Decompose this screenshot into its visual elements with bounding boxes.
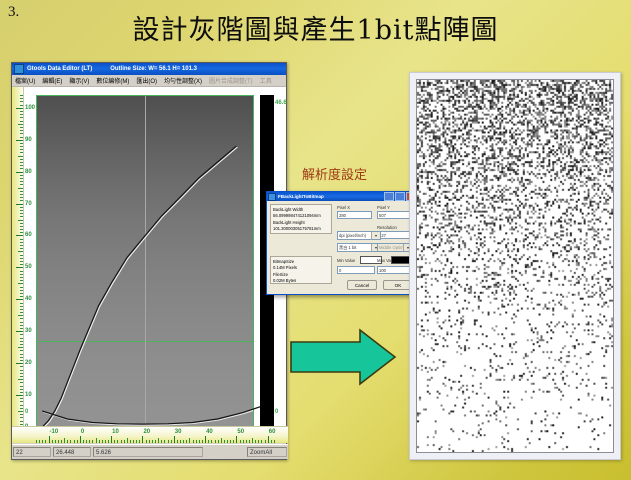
window-titlebar[interactable]: Gtools Data Editor (LT) Outline Size: W=… [12,63,286,75]
backlight-width-value: 56.099998474121094mm [273,213,329,219]
menu-item-edit[interactable]: 編輯(E) [42,76,62,85]
resolution-input[interactable]: 127 [377,231,413,239]
x-axis-tick-label: -10 [50,429,59,435]
menu-item-uniformity[interactable]: 均勻性調整(X) [164,76,202,85]
backlight-info-group: BackLight Width 56.099998474121094mm Bac… [270,204,332,234]
y-axis-tick-label: 90 [25,137,32,143]
app-icon [14,64,24,74]
bit-depth-value: 黑白 1 bit [339,245,356,250]
optimum-select: Middle Optimum ▾ [377,243,413,252]
cancel-button[interactable]: Cancel [347,280,377,290]
chart-right-zero: 0 [275,409,278,415]
menu-item-view[interactable]: 顯示(V) [69,76,89,85]
bitmap-preview-frame[interactable] [409,72,621,460]
backlight-to-bitmap-dialog[interactable]: FBackLightToBitmap BackLight Width 56.09… [266,191,418,295]
backlight-height-value: 101.30000305175781mm [273,226,329,232]
x-axis-tick-label: 40 [206,429,213,435]
chart-top-value: 46.6 [275,100,287,106]
maximize-icon[interactable] [395,192,405,201]
unit-select[interactable]: dpi (pixel/inch) ▾ [337,231,381,240]
arrow-right-icon [291,330,395,384]
min-value-label: Min Value [337,258,355,263]
menu-item-image-composite: 圖片合成調整(T) [209,76,253,85]
y-axis-tick-label: 100 [25,105,35,111]
pixel-y-input[interactable]: 507 [377,211,413,219]
menu-bar[interactable]: 檔案(U) 編輯(E) 顯示(V) 數位編修(M) 匯出(O) 均勻性調整(X)… [12,75,286,87]
dialog-title: FBackLightToBitmap [278,194,324,199]
horizontal-ruler[interactable]: -100102030405060 [12,426,288,443]
plot-curves [37,96,254,427]
bitmap-info-group: BitmapSize 0.14M Pixels FileSize 0.02M B… [270,256,332,284]
dialog-app-icon [268,193,276,201]
outline-size-readout: Outline Size: W= 56.1 H= 101.3 [110,66,197,72]
y-axis-tick-label: 50 [25,264,32,270]
page-title: 設計灰階圖與產生1bit點陣圖 [0,8,631,47]
bit-depth-select[interactable]: 黑白 1 bit ▾ [337,243,381,252]
menu-item-export[interactable]: 匯出(O) [136,76,157,85]
status-zoom-all[interactable]: ZoomAll [247,447,287,457]
y-axis-tick-label: 80 [25,169,32,175]
minimize-icon[interactable] [384,192,394,201]
x-axis-tick-label: 10 [112,429,119,435]
status-bar: 22 26.448 5.626 ZoomAll [12,444,288,459]
pixel-x-label: Pixel X [337,205,350,210]
y-axis-tick-label: 70 [25,201,32,207]
y-axis-tick-label: 10 [25,392,32,398]
x-axis-tick-label: 0 [81,429,84,435]
window-title: Gtools Data Editor (LT) [27,66,92,72]
y-axis-tick-label: 20 [25,360,32,366]
x-axis-tick-label: 50 [237,429,244,435]
menu-item-digital-edit[interactable]: 數位編修(M) [96,76,129,85]
unit-select-value: dpi (pixel/inch) [339,233,366,238]
status-cell-1: 22 [13,447,51,457]
status-cell-x: 26.448 [53,447,91,457]
y-axis-tick-label: 60 [25,232,32,238]
min-value-input[interactable]: 0 [337,266,375,274]
bitmap-preview-inner [416,79,614,453]
x-axis-tick-label: 30 [175,429,182,435]
dialog-body: BackLight Width 56.099998474121094mm Bac… [267,201,417,294]
x-axis-tick-label: 20 [143,429,150,435]
dialog-titlebar[interactable]: FBackLightToBitmap [267,192,417,201]
y-axis-tick-label: 40 [25,296,32,302]
chevron-down-icon[interactable]: ▾ [371,232,380,239]
gtools-data-editor-window[interactable]: Gtools Data Editor (LT) Outline Size: W=… [11,62,287,460]
dithered-bitmap-canvas [417,80,613,452]
menu-item-file[interactable]: 檔案(U) [15,76,35,85]
vertical-ruler[interactable] [12,87,24,436]
resolution-annotation-label: 解析度設定 [302,164,367,183]
file-size-value: 0.02M Bytes [273,278,329,284]
max-value-input[interactable]: 100 [377,266,413,274]
chart-left-zero: 0 [25,409,28,415]
flow-arrow [288,327,398,387]
resolution-label: Resolution [377,225,397,230]
chart-area[interactable]: 46.6 0 0 0102030405060708090100 [12,87,286,436]
menu-item-tools: 工具 [260,76,272,85]
status-cell-y: 5.626 [93,447,203,457]
x-axis-tick-label: 60 [269,429,276,435]
pixel-x-input[interactable]: 280 [337,211,372,219]
pixel-y-label: Pixel Y [377,205,390,210]
y-axis-tick-label: 30 [25,328,32,334]
gradient-plot[interactable] [36,95,254,427]
